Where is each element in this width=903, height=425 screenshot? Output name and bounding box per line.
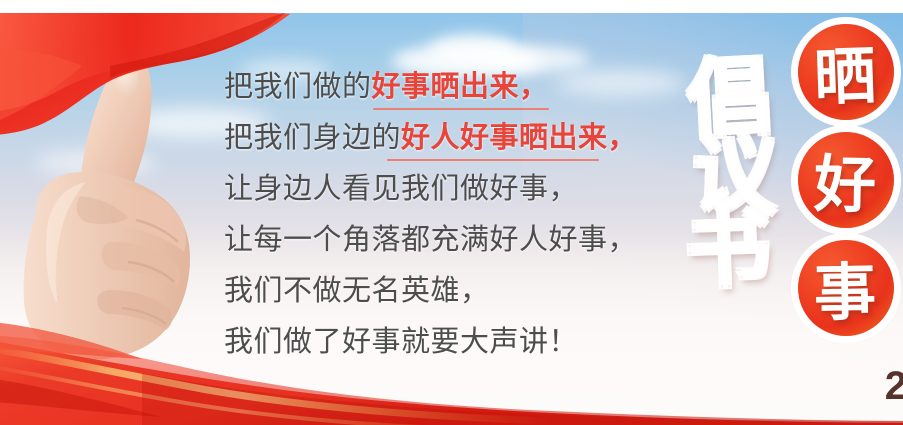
slogan-text-highlight: 好人好事晒出来 xyxy=(401,122,608,154)
seal-badge: 事 xyxy=(792,234,898,354)
corner-page-mark: 2 xyxy=(885,364,903,409)
top-white-strip xyxy=(0,0,903,13)
slogan-underline xyxy=(373,108,549,110)
slogan-text-punct: ， xyxy=(608,122,638,154)
slogan-line: 把我们身边的好人好事晒出来， xyxy=(224,113,664,164)
seal-char: 晒 xyxy=(813,46,877,110)
slogan-text-block: 把我们做的好事晒出来， 把我们身边的好人好事晒出来， 让身边人看见我们做好事， … xyxy=(224,62,664,368)
slogan-line: 让身边人看见我们做好事， xyxy=(224,164,664,215)
calligraphy-char: 书 xyxy=(684,208,773,293)
seal-badge: 晒 xyxy=(792,18,898,138)
slogan-line: 让每一个角落都充满好人好事， xyxy=(224,215,664,266)
slogan-text-plain: 把我们身边的 xyxy=(224,122,401,154)
slogan-line: 我们做了好事就要大声讲！ xyxy=(224,317,664,368)
slogan-text-highlight: 好事晒出来 xyxy=(372,71,520,103)
slogan-line: 我们不做无名英雄， xyxy=(224,266,664,317)
seal-char: 好 xyxy=(813,154,876,217)
calligraphy-char-text: 书 xyxy=(684,208,773,293)
poster-banner: 把我们做的好事晒出来， 把我们身边的好人好事晒出来， 让身边人看见我们做好事， … xyxy=(0,0,903,425)
seal-stack: 晒 好 事 xyxy=(792,18,900,370)
seal-char: 事 xyxy=(813,262,876,325)
slogan-text-punct: ， xyxy=(519,71,549,103)
slogan-underline xyxy=(387,159,599,161)
calligraphy-title-vertical: 倡 议 书 xyxy=(672,58,788,378)
seal-badge: 好 xyxy=(792,126,898,246)
slogan-text-plain: 把我们做的 xyxy=(224,71,372,103)
slogan-line: 把我们做的好事晒出来， xyxy=(224,62,664,113)
